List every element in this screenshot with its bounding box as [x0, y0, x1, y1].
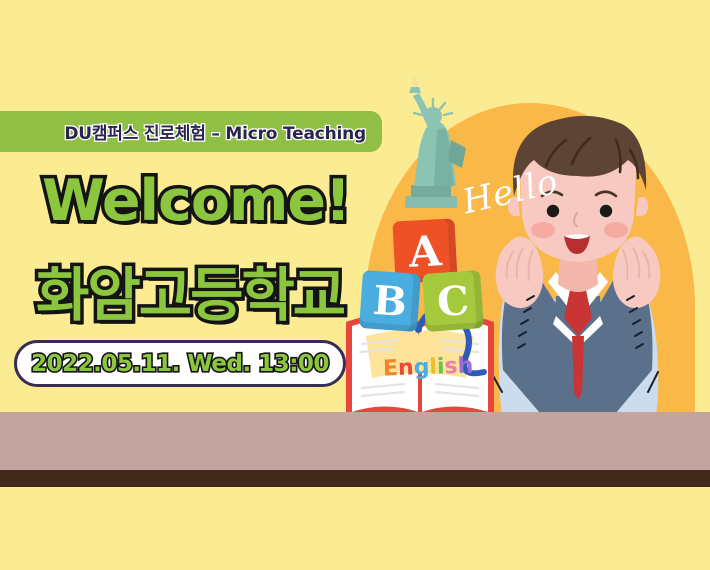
page-title-english: Welcome! [42, 168, 350, 234]
desk-surface [0, 412, 710, 472]
event-datetime-pill: 2022.05.11. Wed. 13:00 [14, 340, 346, 387]
event-banner: DU캠퍼스 진로체험 – Micro Teaching [0, 111, 382, 152]
poster-canvas: A B C English Hello DU캠퍼스 진로체험 – Micro T… [0, 0, 710, 570]
event-banner-label: DU캠퍼스 진로체험 – Micro Teaching [64, 119, 366, 144]
english-letter-s: s [444, 354, 458, 379]
alphabet-block-c: C [422, 270, 484, 332]
alphabet-block-b: B [359, 270, 421, 332]
english-letter-g: g [413, 355, 430, 381]
event-datetime-label: 2022.05.11. Wed. 13:00 [31, 351, 329, 377]
page-title-korean: 화암고등학교 [36, 248, 344, 332]
english-letter-e: E [383, 356, 399, 382]
english-letter-h: h [457, 353, 474, 379]
desk-edge [0, 470, 710, 487]
english-word-label: English [383, 353, 474, 381]
english-letter-n: n [398, 356, 415, 382]
